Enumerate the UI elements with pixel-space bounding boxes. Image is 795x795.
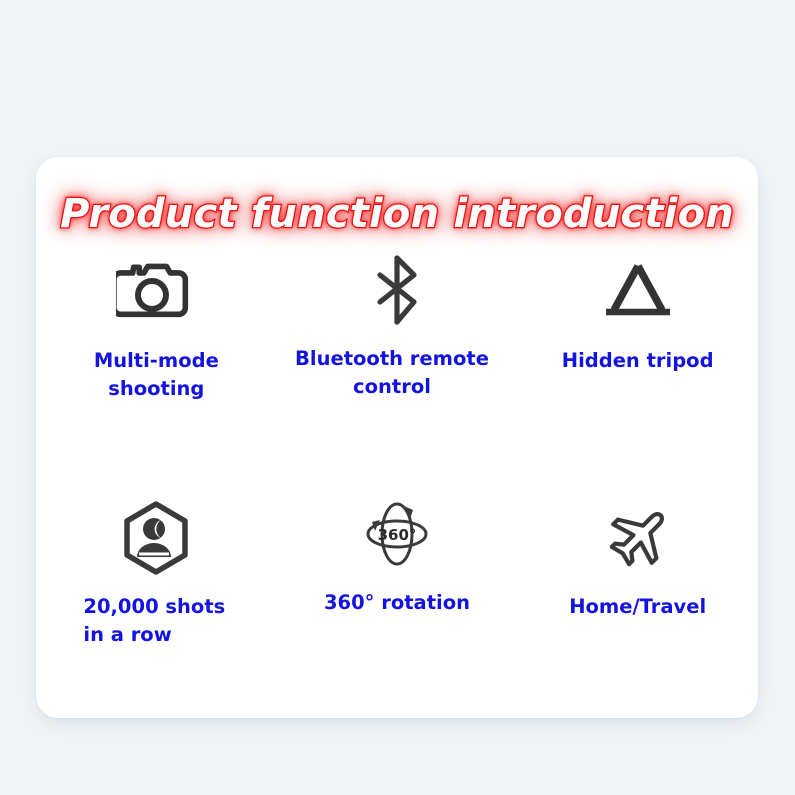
tripod-icon [598, 255, 678, 329]
feature-item-20000-shots[interactable]: 20,000 shots in a row [36, 479, 277, 709]
feature-card: Product function introduction Multi-mode… [36, 157, 758, 718]
feature-label: Bluetooth remote control [295, 345, 499, 402]
feature-item-360-rotation[interactable]: 360° 360° rotation [277, 479, 518, 709]
page-root: Product function introduction Multi-mode… [0, 0, 795, 795]
feature-item-multi-mode-shooting[interactable]: Multi-mode shooting [36, 249, 277, 479]
feature-item-home-travel[interactable]: Home/Travel [517, 479, 758, 709]
camera-icon [116, 255, 196, 329]
rotation-360-icon: 360° [358, 497, 436, 571]
feature-label: Multi-mode shooting [94, 347, 219, 404]
page-title: Product function introduction [60, 191, 734, 237]
airplane-icon [601, 501, 675, 575]
title-container: Product function introduction [36, 191, 758, 237]
portrait-hexagon-icon [121, 501, 191, 575]
feature-item-bluetooth-remote-control[interactable]: Bluetooth remote control [277, 249, 518, 479]
feature-grid: Multi-mode shooting Bluetooth remote con… [36, 249, 758, 709]
feature-label: 360° rotation [324, 589, 470, 617]
feature-label: 20,000 shots in a row [83, 593, 225, 650]
feature-label: Hidden tripod [562, 347, 714, 375]
rotation-360-icon-text: 360° [378, 526, 417, 544]
feature-label: Home/Travel [569, 593, 706, 621]
feature-item-hidden-tripod[interactable]: Hidden tripod [517, 249, 758, 479]
bluetooth-icon [368, 253, 426, 327]
